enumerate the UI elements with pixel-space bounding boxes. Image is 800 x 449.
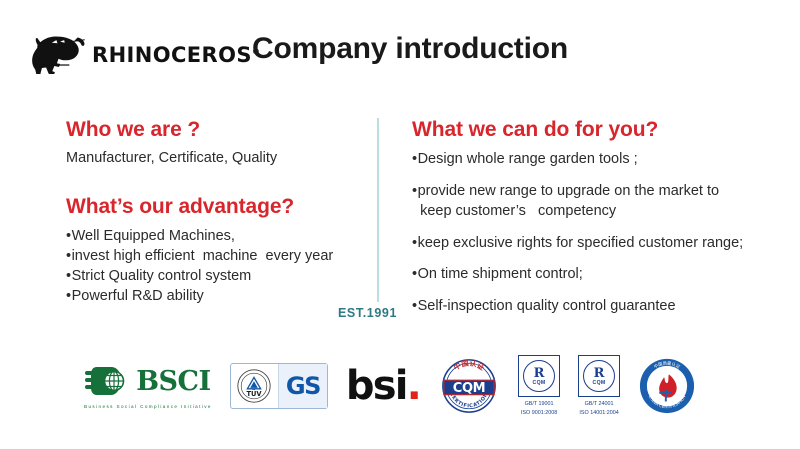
gs-mark-icon: GS (279, 364, 327, 408)
iso-mark-letter: R (594, 367, 605, 380)
brand-logo: RHINOCEROS® (28, 28, 208, 76)
list-item: •Powerful R&D ability (66, 286, 366, 306)
section-spacer (66, 169, 366, 195)
list-item-text: Strict Quality control system (72, 268, 252, 284)
list-item-text: invest high efficient machine every year (72, 248, 334, 264)
cqm-registration-mark-icon: R CQM (578, 355, 620, 397)
list-item: •keep exclusive rights for specified cus… (412, 233, 784, 254)
list-item: •Self-inspection quality control guarant… (412, 296, 784, 317)
iso-caption: GB/T 19001 ISO 9001:2008 (521, 400, 557, 416)
iso-mark-sub: CQM (593, 381, 606, 386)
slide-header: RHINOCEROS® Company introduction (0, 0, 800, 95)
gs-wordmark: GS (286, 374, 320, 398)
certification-logo-bsci: BSCI Business Social Compliance Initiati… (84, 352, 212, 420)
iso-mark-letter: R (534, 367, 545, 380)
iso-caption: GB/T 24001 ISO 14001:2004 (579, 400, 618, 416)
heading-our-advantage: What’s our advantage? (66, 195, 366, 219)
tuv-seal-icon: TÜV (231, 364, 279, 408)
iso-mark-sub: CQM (533, 381, 546, 386)
bsi-label: bsi (346, 363, 407, 409)
certification-logo-iso-14001: R CQM GB/T 24001 ISO 14001:2004 (578, 352, 620, 420)
left-column: Who we are ? Manufacturer, Certificate, … (66, 118, 366, 306)
list-item-text: Design whole range garden tools ; (418, 151, 638, 167)
certification-logo-bsi: bsi. (346, 352, 420, 420)
iso-mark-inner: R CQM (583, 360, 615, 392)
certification-logo-strip: BSCI Business Social Compliance Initiati… (84, 352, 684, 420)
list-item-text: provide new range to upgrade on the mark… (412, 183, 719, 220)
svg-text:TÜV: TÜV (247, 389, 263, 398)
bsi-dot-icon: . (407, 363, 420, 409)
brand-name-text: RHINOCEROS (92, 43, 252, 67)
list-item: •Design whole range garden tools ; (412, 149, 784, 170)
advantage-bullet-list: •Well Equipped Machines, •invest high ef… (66, 226, 366, 306)
cqm-seal-icon: 中国认证 CERTIFICATION CQM (438, 357, 500, 415)
list-item-text: Self-inspection quality control guarante… (418, 298, 676, 314)
right-column: What we can do for you? •Design whole ra… (412, 118, 784, 316)
iso-caption-line1: GB/T 24001 (579, 400, 618, 408)
iso-caption-line2: ISO 9001:2008 (521, 409, 557, 417)
svg-text:CQM: CQM (453, 381, 485, 396)
list-item-text: On time shipment control; (418, 266, 583, 282)
certification-logo-iso-9001: R CQM GB/T 19001 ISO 9001:2008 (518, 352, 560, 420)
bsi-wordmark-icon: bsi. (346, 366, 420, 406)
list-item: •invest high efficient machine every yea… (66, 246, 366, 266)
bsci-lockup: BSCI (85, 363, 210, 399)
cqm-registration-mark-icon: R CQM (518, 355, 560, 397)
established-badge: EST.1991 (338, 306, 397, 320)
certification-logo-tuv-gs: TÜV GS (230, 352, 328, 420)
page-title: Company introduction (252, 32, 568, 66)
certification-logo-flame-emblem: 中国质量认证 CHINA CERTIFICATION (638, 352, 696, 420)
brand-wordmark: RHINOCEROS® (92, 45, 260, 66)
slide-canvas: RHINOCEROS® Company introduction Who we … (0, 0, 800, 449)
list-item-text: keep exclusive rights for specified cust… (418, 235, 744, 251)
list-item: •Strict Quality control system (66, 266, 366, 286)
iso-caption-line1: GB/T 19001 (521, 400, 557, 408)
bsci-wordmark: BSCI (136, 368, 210, 395)
iso-mark-inner: R CQM (523, 360, 555, 392)
capabilities-bullet-list: •Design whole range garden tools ; •prov… (412, 149, 784, 316)
bsci-tagline: Business Social Compliance Initiative (84, 404, 212, 409)
list-item-text: Well Equipped Machines, (72, 228, 235, 244)
who-we-are-body: Manufacturer, Certificate, Quality (66, 149, 366, 169)
list-item: •provide new range to upgrade on the mar… (412, 181, 784, 222)
list-item: •On time shipment control; (412, 264, 784, 285)
heading-who-we-are: Who we are ? (66, 118, 366, 142)
tuv-gs-panel: TÜV GS (230, 363, 328, 409)
column-divider (377, 118, 379, 302)
list-item-text: Powerful R&D ability (72, 288, 204, 304)
flame-circle-emblem-icon: 中国质量认证 CHINA CERTIFICATION (638, 357, 696, 415)
certification-logo-cqm: 中国认证 CERTIFICATION CQM (438, 352, 500, 420)
bsci-globe-hand-icon (85, 363, 131, 399)
rhinoceros-icon (28, 30, 90, 74)
iso-caption-line2: ISO 14001:2004 (579, 409, 618, 417)
list-item: •Well Equipped Machines, (66, 226, 366, 246)
heading-what-we-can-do: What we can do for you? (412, 118, 784, 142)
